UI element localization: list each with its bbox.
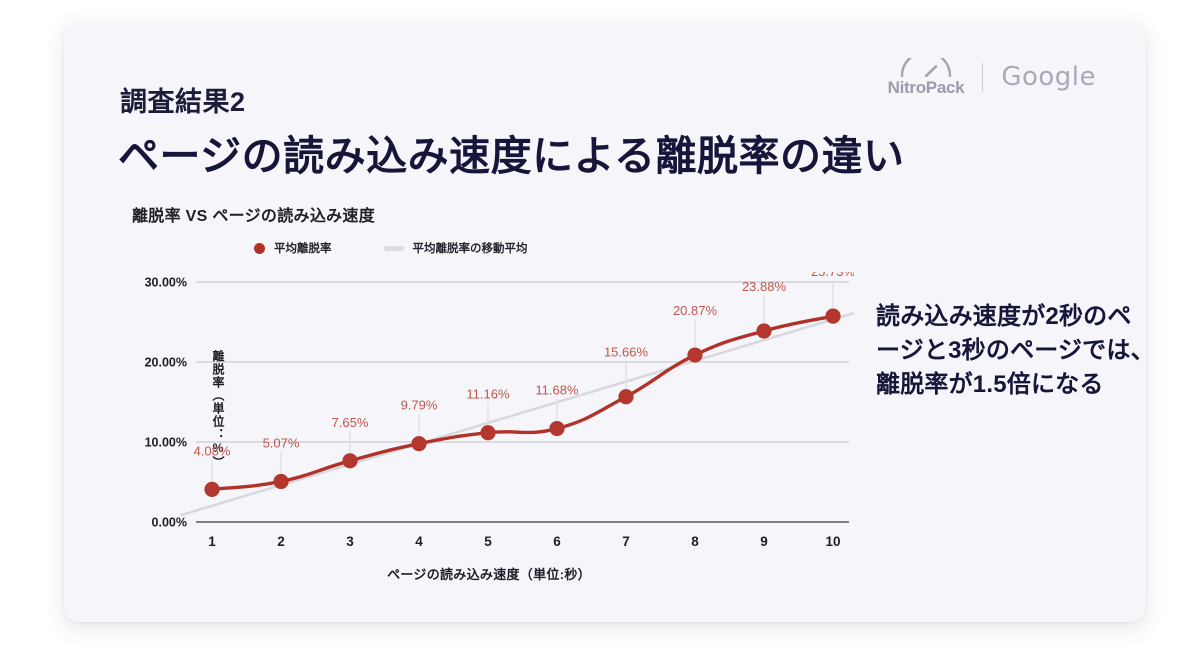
- data-point-marker: [756, 323, 771, 338]
- data-point-label: 15.66%: [604, 345, 649, 360]
- x-axis-tick-label: 8: [691, 534, 699, 549]
- chart-plot: 0.00%10.00%20.00%30.00% 4.08%5.07%7.65%9…: [124, 272, 854, 562]
- brand-bar: NitroPack Google: [888, 58, 1096, 96]
- legend-dash-icon: [384, 246, 404, 251]
- x-axis-tick-label: 2: [277, 534, 285, 549]
- legend-label: 平均離脱率: [274, 240, 332, 256]
- y-axis-tick-label: 20.00%: [145, 356, 187, 370]
- chart-title: 離脱率 VS ページの読み込み速度: [132, 202, 375, 226]
- chart-gridlines: [196, 282, 849, 522]
- x-axis-tick-label: 7: [622, 534, 630, 549]
- y-axis-tick-label: 10.00%: [145, 436, 187, 450]
- page-title: ページの読み込み速度による離脱率の違い: [118, 122, 904, 182]
- data-point-marker: [480, 425, 495, 440]
- data-point-label: 20.87%: [673, 303, 718, 318]
- side-note-line-1: 読み込み速度が2秒のペ: [876, 300, 1146, 334]
- data-point-label: 9.79%: [401, 398, 438, 413]
- data-point-marker: [825, 309, 840, 324]
- legend-item-moving-average: 平均離脱率の移動平均: [384, 240, 528, 256]
- nitropack-logo: NitroPack: [888, 58, 965, 96]
- bounce-rate-line: [212, 316, 833, 489]
- nitropack-label: NitroPack: [888, 79, 965, 96]
- data-point-marker: [411, 436, 426, 451]
- y-axis-tick-label: 30.00%: [145, 276, 187, 290]
- side-note-line-2: ージと3秒のページでは、: [876, 334, 1146, 368]
- eyebrow-heading: 調査結果2: [120, 80, 246, 119]
- legend-item-average-bounce-rate: 平均離脱率: [254, 240, 332, 256]
- data-point-label: 23.88%: [742, 279, 787, 294]
- legend-circle-icon: [254, 243, 265, 254]
- x-axis-tick-label: 3: [346, 534, 354, 549]
- data-point-label: 7.65%: [332, 415, 369, 430]
- chart-container: 離脱率 VS ページの読み込み速度 平均離脱率 平均離脱率の移動平均 離脱率（単…: [124, 202, 854, 592]
- data-point-marker: [342, 453, 357, 468]
- x-axis-tick-label: 5: [484, 534, 492, 549]
- data-point-label: 11.68%: [535, 383, 579, 398]
- side-note: 読み込み速度が2秒のペ ージと3秒のページでは、 離脱率が1.5倍になる: [876, 300, 1146, 402]
- data-label-leader-lines: [212, 280, 833, 481]
- x-axis-title: ページの読み込み速度（単位:秒）: [124, 564, 854, 583]
- side-note-line-3: 離脱率が1.5倍になる: [876, 368, 1146, 402]
- data-point-marker: [204, 482, 219, 497]
- x-axis-tick-labels: 12345678910: [208, 534, 840, 549]
- data-point-marker: [618, 389, 633, 404]
- data-point-label: 11.16%: [466, 387, 510, 402]
- x-axis-tick-label: 10: [825, 534, 840, 549]
- data-point-label: 5.07%: [263, 435, 300, 450]
- chart-legend: 平均離脱率 平均離脱率の移動平均: [254, 240, 528, 256]
- y-axis-tick-label: 0.00%: [152, 516, 187, 530]
- brand-divider: [982, 63, 983, 91]
- data-point-labels: 4.08%5.07%7.65%9.79%11.16%11.68%15.66%20…: [194, 272, 854, 458]
- legend-label: 平均離脱率の移動平均: [413, 240, 528, 256]
- slide-card: NitroPack Google 調査結果2 ページの読み込み速度による離脱率の…: [64, 22, 1146, 622]
- data-point-marker: [687, 347, 702, 362]
- data-point-marker: [549, 421, 564, 436]
- x-axis-tick-label: 6: [553, 534, 561, 549]
- x-axis-tick-label: 9: [760, 534, 768, 549]
- x-axis-tick-label: 4: [415, 534, 423, 549]
- data-point-label: 25.73%: [811, 272, 854, 279]
- x-axis-tick-label: 1: [208, 534, 216, 549]
- y-axis-tick-labels: 0.00%10.00%20.00%30.00%: [145, 276, 187, 530]
- data-point-marker: [273, 474, 288, 489]
- google-label: Google: [1001, 62, 1096, 92]
- data-point-label: 4.08%: [194, 443, 231, 458]
